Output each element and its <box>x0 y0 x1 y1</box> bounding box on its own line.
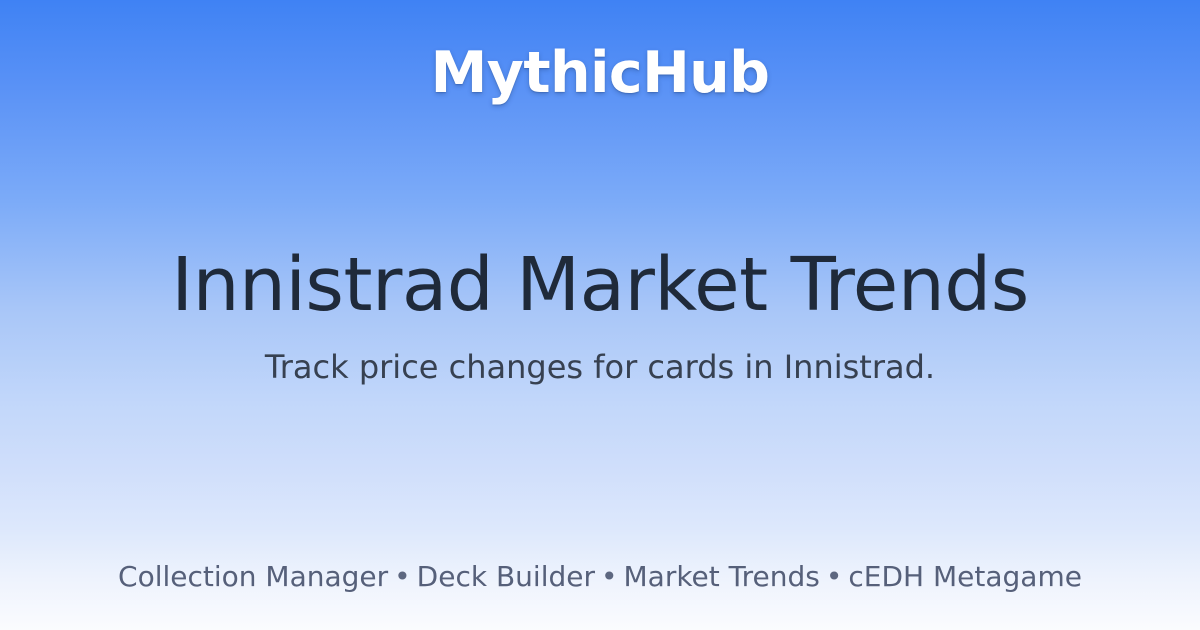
feature-item: Collection Manager <box>118 560 388 593</box>
feature-separator: • <box>820 560 849 593</box>
og-share-card: MythicHub Innistrad Market Trends Track … <box>0 0 1200 630</box>
page-title: Innistrad Market Trends <box>171 246 1029 326</box>
brand-header: MythicHub <box>0 0 1200 146</box>
feature-separator: • <box>388 560 417 593</box>
page-subtitle: Track price changes for cards in Innistr… <box>265 348 935 386</box>
feature-item: Deck Builder <box>417 560 595 593</box>
feature-list: Collection Manager•Deck Builder•Market T… <box>118 559 1082 594</box>
footer-feature-strip: Collection Manager•Deck Builder•Market T… <box>0 559 1200 594</box>
feature-item: Market Trends <box>624 560 820 593</box>
feature-item: cEDH Metagame <box>848 560 1082 593</box>
brand-wordmark: MythicHub <box>431 45 770 102</box>
feature-separator: • <box>595 560 624 593</box>
hero-section: Innistrad Market Trends Track price chan… <box>0 246 1200 386</box>
